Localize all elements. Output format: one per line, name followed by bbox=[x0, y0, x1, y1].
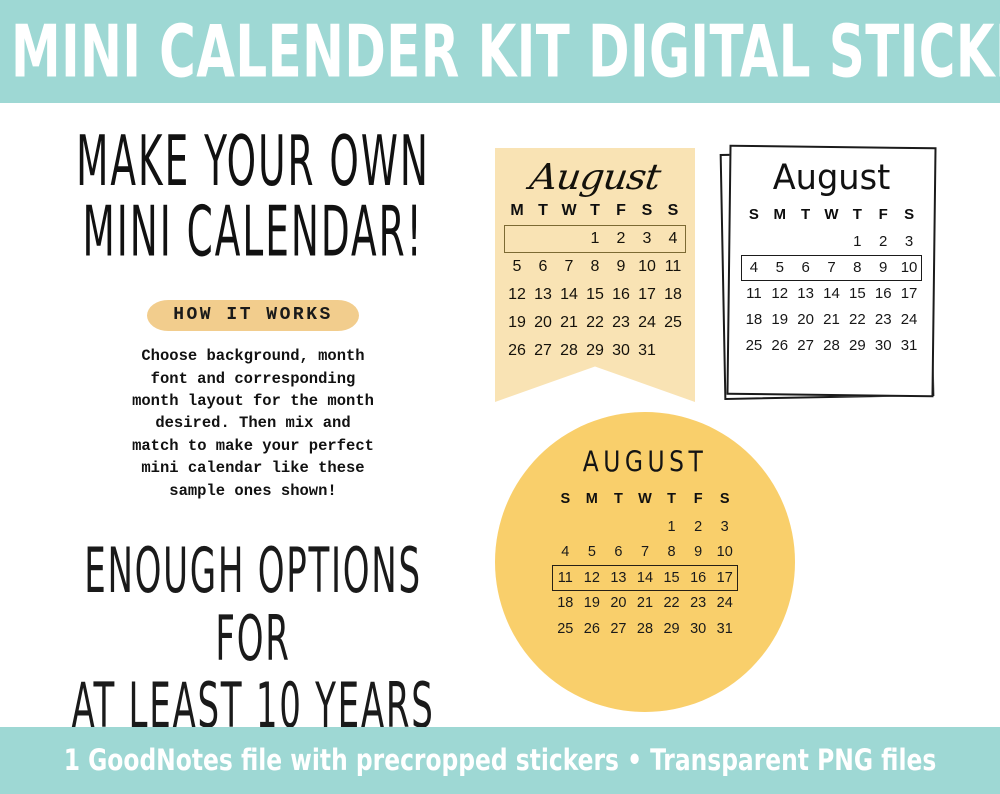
day-cell: 10 bbox=[711, 540, 738, 566]
how-line: match to make your perfect bbox=[66, 435, 440, 457]
day-cell: 8 bbox=[844, 255, 870, 281]
weekday-header-cell: T bbox=[582, 198, 608, 225]
day-cell: 16 bbox=[870, 281, 896, 307]
calendar-card-content: August S M T W T F S 1 2 3 4 5 bbox=[731, 150, 932, 392]
headline-line-2: MINI CALENDAR! bbox=[65, 199, 441, 270]
calendar-week-row: 18 19 20 21 22 23 24 bbox=[552, 591, 738, 617]
day-cell: 26 bbox=[504, 337, 530, 365]
day-cell: 12 bbox=[504, 281, 530, 309]
day-cell: 17 bbox=[634, 281, 660, 309]
how-line: mini calendar like these bbox=[66, 457, 440, 479]
calendar-week-row: 11 12 13 14 15 16 17 bbox=[741, 281, 922, 307]
day-cell: 6 bbox=[530, 253, 556, 281]
day-cell: 3 bbox=[896, 229, 922, 255]
day-cell: 14 bbox=[819, 281, 845, 307]
day-cell: 2 bbox=[685, 514, 712, 540]
footer-description: 1 GoodNotes file with precropped sticker… bbox=[64, 746, 937, 775]
calendar-month-label: August bbox=[745, 160, 919, 197]
day-cell: 1 bbox=[582, 225, 608, 253]
weekday-header-cell: F bbox=[870, 203, 896, 229]
day-cell: 21 bbox=[632, 591, 659, 617]
day-cell: 29 bbox=[658, 616, 685, 642]
weekday-header-cell: F bbox=[685, 489, 712, 514]
day-cell: 27 bbox=[605, 616, 632, 642]
day-cell: 15 bbox=[658, 565, 685, 591]
day-cell: 8 bbox=[658, 540, 685, 566]
calendar-sample-cream-banner: August M T W T F S S 1 2 3 4 5 6 7 8 9 1… bbox=[495, 148, 695, 402]
day-cell: 2 bbox=[608, 225, 634, 253]
day-cell: 31 bbox=[711, 616, 738, 642]
calendar-week-row: 1 2 3 bbox=[552, 514, 738, 540]
day-cell: 27 bbox=[530, 337, 556, 365]
weekday-header-cell: T bbox=[605, 489, 632, 514]
day-cell: 25 bbox=[741, 333, 767, 359]
weekday-header-cell: W bbox=[556, 198, 582, 225]
day-cell: 20 bbox=[530, 309, 556, 337]
day-cell: 23 bbox=[870, 307, 896, 333]
weekday-header-cell: W bbox=[819, 203, 845, 229]
day-cell: 19 bbox=[504, 309, 530, 337]
weekday-header-cell: S bbox=[552, 489, 579, 514]
day-cell: 19 bbox=[767, 307, 793, 333]
day-cell bbox=[793, 229, 819, 255]
day-cell: 11 bbox=[741, 281, 767, 307]
day-cell: 23 bbox=[608, 309, 634, 337]
day-cell: 18 bbox=[741, 307, 767, 333]
day-cell: 30 bbox=[608, 337, 634, 365]
day-cell: 26 bbox=[579, 616, 606, 642]
how-it-works-description: Choose background, month font and corres… bbox=[18, 345, 488, 502]
day-cell bbox=[767, 229, 793, 255]
day-cell: 1 bbox=[658, 514, 685, 540]
day-cell: 2 bbox=[870, 229, 896, 255]
calendar-week-row: 25 26 27 28 29 30 31 bbox=[741, 333, 922, 359]
calendar-sample-gold-circle: AUGUST S M T W T F S 1 2 3 4 5 bbox=[495, 412, 795, 712]
day-cell bbox=[605, 514, 632, 540]
day-cell: 27 bbox=[793, 333, 819, 359]
calendar-week-row: 19 20 21 22 23 24 25 bbox=[504, 309, 686, 337]
weekday-header-cell: T bbox=[658, 489, 685, 514]
calendar-weekday-header: S M T W T F S bbox=[552, 489, 738, 514]
calendar-weekday-header: M T W T F S S bbox=[504, 198, 686, 225]
day-cell: 13 bbox=[793, 281, 819, 307]
day-cell: 7 bbox=[556, 253, 582, 281]
day-cell: 24 bbox=[896, 307, 922, 333]
calendar-week-row: 5 6 7 8 9 10 11 bbox=[504, 253, 686, 281]
day-cell: 25 bbox=[552, 616, 579, 642]
day-cell: 28 bbox=[632, 616, 659, 642]
weekday-header-cell: T bbox=[530, 198, 556, 225]
weekday-header-cell: S bbox=[660, 198, 686, 225]
weekday-header-cell: M bbox=[767, 203, 793, 229]
weekday-header-cell: W bbox=[632, 489, 659, 514]
calendar-week-row: 12 13 14 15 16 17 18 bbox=[504, 281, 686, 309]
weekday-header-cell: S bbox=[634, 198, 660, 225]
calendar-week-row: 1 2 3 bbox=[741, 229, 922, 255]
day-cell: 4 bbox=[552, 540, 579, 566]
how-line: Choose background, month bbox=[66, 345, 440, 367]
day-cell: 11 bbox=[660, 253, 686, 281]
day-cell: 30 bbox=[685, 616, 712, 642]
day-cell: 30 bbox=[870, 333, 896, 359]
weekday-header-cell: F bbox=[608, 198, 634, 225]
day-cell: 1 bbox=[844, 229, 870, 255]
calendar-week-row: 26 27 28 29 30 31 bbox=[504, 337, 686, 365]
day-cell: 21 bbox=[819, 307, 845, 333]
day-cell: 18 bbox=[552, 591, 579, 617]
day-cell: 6 bbox=[605, 540, 632, 566]
how-it-works-badge: HOW IT WORKS bbox=[147, 300, 359, 331]
calendar-circle-content: AUGUST S M T W T F S 1 2 3 4 5 bbox=[552, 450, 738, 642]
day-cell: 5 bbox=[504, 253, 530, 281]
day-cell bbox=[632, 514, 659, 540]
calendar-week-row-highlighted: 11 12 13 14 15 16 17 bbox=[552, 565, 738, 591]
day-cell: 19 bbox=[579, 591, 606, 617]
day-cell: 6 bbox=[793, 255, 819, 281]
page-title: DIY MINI CALENDER KIT DIGITAL STICKERS bbox=[0, 16, 1000, 88]
calendar-month-label: AUGUST bbox=[552, 449, 738, 477]
day-cell: 16 bbox=[685, 565, 712, 591]
day-cell bbox=[579, 514, 606, 540]
header-banner: DIY MINI CALENDER KIT DIGITAL STICKERS bbox=[0, 0, 1000, 103]
day-cell: 13 bbox=[605, 565, 632, 591]
day-cell: 31 bbox=[634, 337, 660, 365]
footer-banner: 1 GoodNotes file with precropped sticker… bbox=[0, 727, 1000, 794]
day-cell: 3 bbox=[711, 514, 738, 540]
day-cell bbox=[552, 514, 579, 540]
day-cell: 13 bbox=[530, 281, 556, 309]
calendar-sample-framed-card: August S M T W T F S 1 2 3 4 5 bbox=[718, 146, 940, 404]
calendar-month-label: August bbox=[501, 159, 688, 195]
day-cell: 14 bbox=[556, 281, 582, 309]
day-cell: 7 bbox=[819, 255, 845, 281]
day-cell: 4 bbox=[660, 225, 686, 253]
day-cell bbox=[741, 229, 767, 255]
day-cell: 20 bbox=[793, 307, 819, 333]
day-cell: 28 bbox=[819, 333, 845, 359]
day-cell: 8 bbox=[582, 253, 608, 281]
day-cell: 21 bbox=[556, 309, 582, 337]
day-cell: 5 bbox=[579, 540, 606, 566]
day-cell: 14 bbox=[632, 565, 659, 591]
weekday-header-cell: T bbox=[793, 203, 819, 229]
how-line: desired. Then mix and bbox=[66, 412, 440, 434]
day-cell: 29 bbox=[844, 333, 870, 359]
headline-line-1: MAKE YOUR OWN bbox=[76, 123, 430, 203]
calendar-weekday-header: S M T W T F S bbox=[741, 203, 922, 229]
how-line: font and corresponding bbox=[66, 368, 440, 390]
weekday-header-cell: S bbox=[896, 203, 922, 229]
day-cell: 20 bbox=[605, 591, 632, 617]
day-cell: 16 bbox=[608, 281, 634, 309]
day-cell: 15 bbox=[582, 281, 608, 309]
day-cell: 17 bbox=[711, 565, 738, 591]
day-cell: 10 bbox=[634, 253, 660, 281]
day-cell bbox=[819, 229, 845, 255]
left-info-column: MAKE YOUR OWN MINI CALENDAR! HOW IT WORK… bbox=[18, 118, 488, 718]
day-cell: 24 bbox=[634, 309, 660, 337]
weekday-header-cell: M bbox=[579, 489, 606, 514]
day-cell: 18 bbox=[660, 281, 686, 309]
day-cell: 22 bbox=[658, 591, 685, 617]
listing-image: DIY MINI CALENDER KIT DIGITAL STICKERS M… bbox=[0, 0, 1000, 794]
how-line: month layout for the month bbox=[66, 390, 440, 412]
day-cell bbox=[556, 225, 582, 253]
day-cell: 26 bbox=[767, 333, 793, 359]
day-cell: 5 bbox=[767, 255, 793, 281]
how-line: sample ones shown! bbox=[66, 480, 440, 502]
day-cell: 23 bbox=[685, 591, 712, 617]
headline: MAKE YOUR OWN MINI CALENDAR! bbox=[65, 128, 441, 269]
day-cell: 12 bbox=[767, 281, 793, 307]
day-cell bbox=[530, 225, 556, 253]
calendar-week-row-highlighted: 4 5 6 7 8 9 10 bbox=[741, 255, 922, 281]
calendar-week-row: 18 19 20 21 22 23 24 bbox=[741, 307, 922, 333]
day-cell: 31 bbox=[896, 333, 922, 359]
day-cell: 22 bbox=[844, 307, 870, 333]
how-it-works-badge-wrap: HOW IT WORKS bbox=[18, 300, 488, 331]
weekday-header-cell: S bbox=[741, 203, 767, 229]
day-cell: 24 bbox=[711, 591, 738, 617]
calendar-week-row-highlighted: 1 2 3 4 bbox=[504, 225, 686, 253]
day-cell bbox=[504, 225, 530, 253]
calendar-week-row: 25 26 27 28 29 30 31 bbox=[552, 616, 738, 642]
day-cell: 7 bbox=[632, 540, 659, 566]
weekday-header-cell: S bbox=[711, 489, 738, 514]
day-cell: 15 bbox=[844, 281, 870, 307]
day-cell: 4 bbox=[741, 255, 767, 281]
day-cell: 12 bbox=[579, 565, 606, 591]
day-cell: 9 bbox=[870, 255, 896, 281]
calendar-week-row: 4 5 6 7 8 9 10 bbox=[552, 540, 738, 566]
day-cell: 9 bbox=[608, 253, 634, 281]
weekday-header-cell: M bbox=[504, 198, 530, 225]
day-cell: 9 bbox=[685, 540, 712, 566]
day-cell: 17 bbox=[896, 281, 922, 307]
day-cell: 10 bbox=[896, 255, 922, 281]
day-cell: 28 bbox=[556, 337, 582, 365]
day-cell: 25 bbox=[660, 309, 686, 337]
day-cell bbox=[660, 337, 686, 365]
day-cell: 22 bbox=[582, 309, 608, 337]
day-cell: 3 bbox=[634, 225, 660, 253]
day-cell: 29 bbox=[582, 337, 608, 365]
tagline-line: ENOUGH OPTIONS FOR bbox=[51, 538, 455, 673]
day-cell: 11 bbox=[552, 565, 579, 591]
weekday-header-cell: T bbox=[844, 203, 870, 229]
